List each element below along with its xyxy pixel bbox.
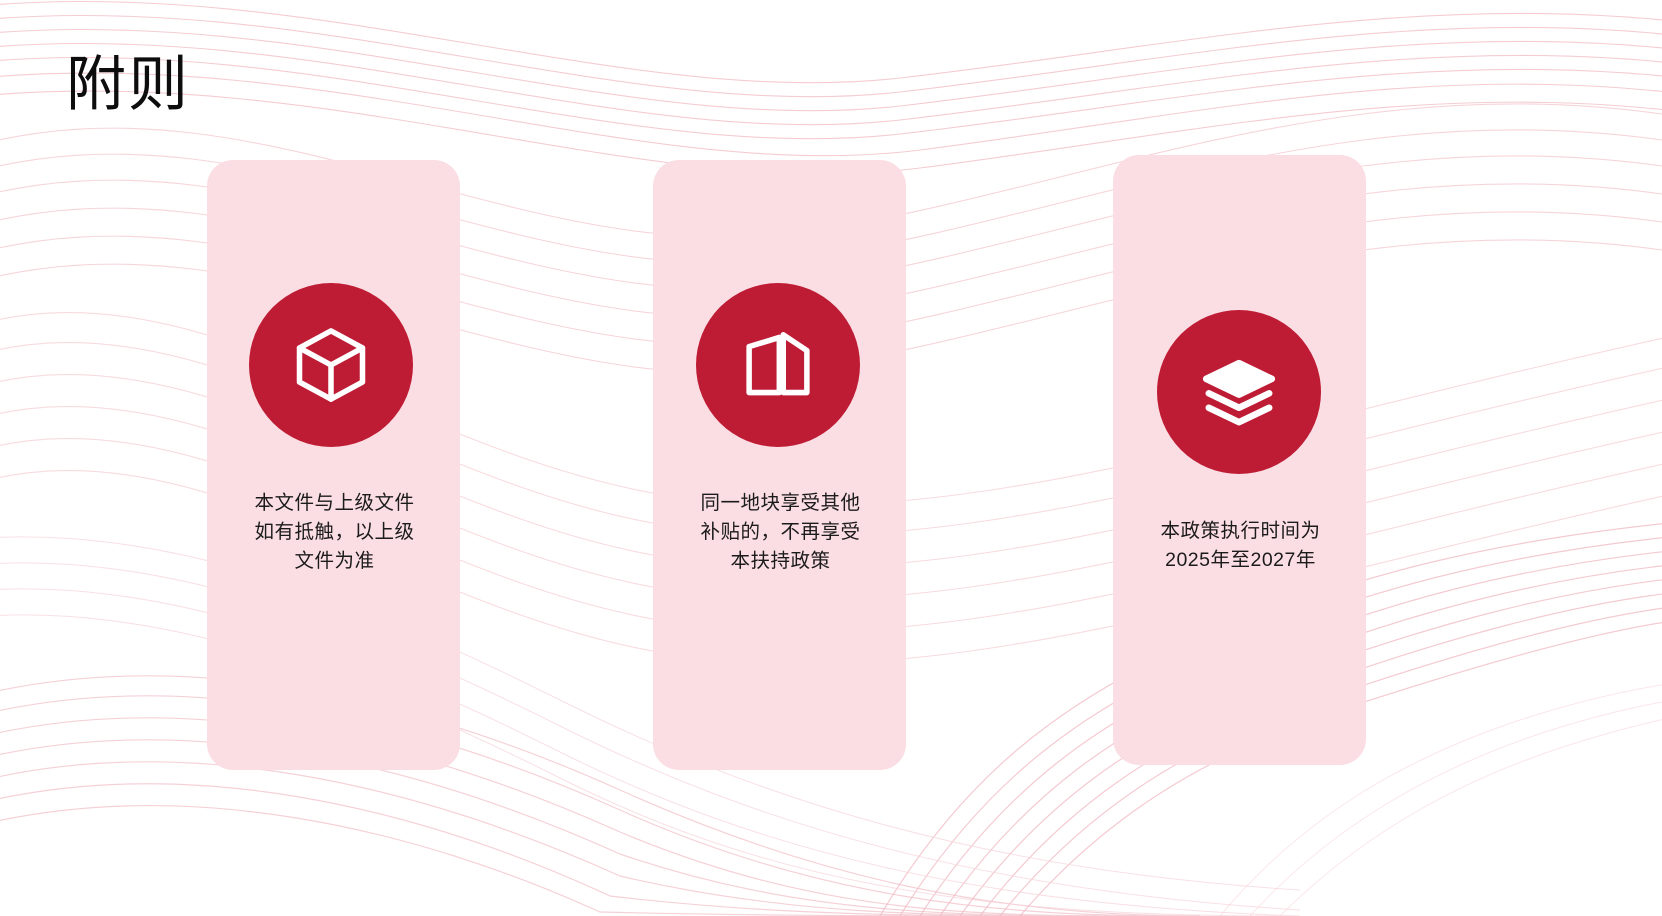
icon-badge-1 [249,283,413,447]
icon-badge-3 [1157,310,1321,474]
card-text-3: 本政策执行时间为 2025年至2027年 [1138,517,1343,575]
card-text-2: 同一地块享受其他 补贴的，不再享受 本扶持政策 [678,489,883,576]
page-title: 附则 [66,52,190,118]
card-text-line: 本政策执行时间为 [1138,517,1343,546]
card-text-line: 本扶持政策 [678,547,883,576]
card-text-line: 本文件与上级文件 [232,489,437,518]
card-text-line: 2025年至2027年 [1138,546,1343,575]
cube-icon [289,323,373,407]
slide-canvas: 附则 本文件与上级文件 如有抵触，以上级 文件为准 同一地块享受其他 补贴的，不… [0,0,1662,916]
card-text-line: 如有抵触，以上级 [232,518,437,547]
icon-badge-2 [696,283,860,447]
info-card-2[interactable] [653,160,906,770]
card-text-line: 文件为准 [232,547,437,576]
info-card-1[interactable] [207,160,460,770]
building-icon [736,323,820,407]
card-text-line: 同一地块享受其他 [678,489,883,518]
layers-icon [1197,350,1281,434]
card-text-1: 本文件与上级文件 如有抵触，以上级 文件为准 [232,489,437,576]
card-text-line: 补贴的，不再享受 [678,518,883,547]
